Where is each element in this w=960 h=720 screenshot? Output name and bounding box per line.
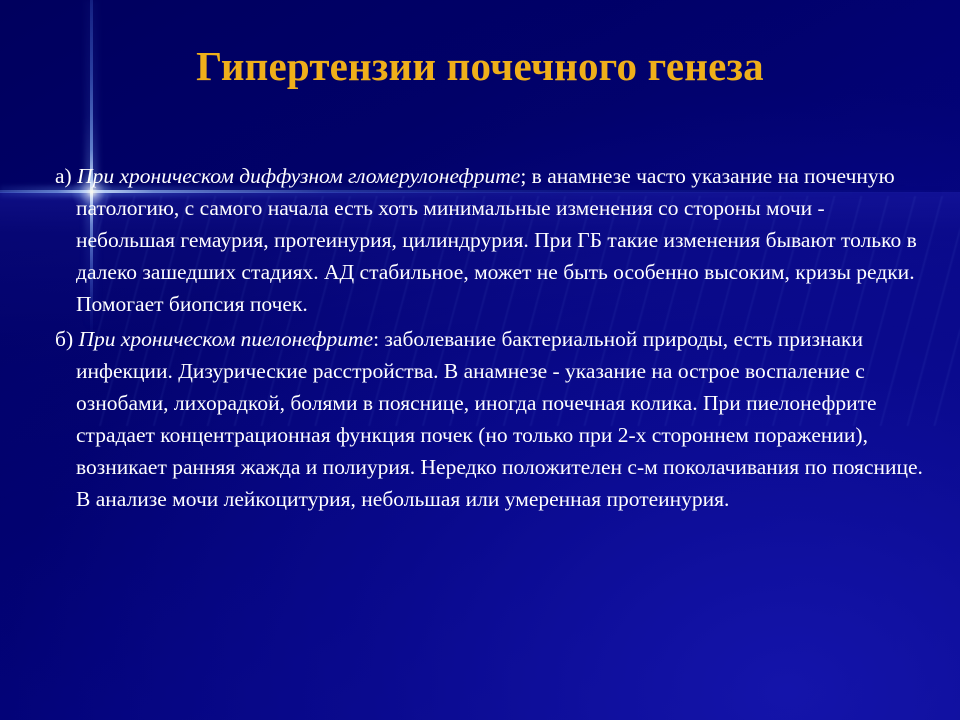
paragraph-lead-b: При хроническом пиелонефрите bbox=[78, 327, 373, 351]
slide-title: Гипертензии почечного генеза bbox=[196, 42, 764, 90]
paragraph-lead-a: При хроническом диффузном гломерулонефри… bbox=[77, 164, 520, 188]
body-paragraph-b: б) При хроническом пиелонефрите: заболев… bbox=[55, 323, 925, 515]
slide-title-container: Гипертензии почечного генеза bbox=[0, 42, 960, 90]
slide-body: а) При хроническом диффузном гломерулоне… bbox=[55, 160, 925, 518]
paragraph-marker-b: б) bbox=[55, 327, 73, 351]
paragraph-marker-a: а) bbox=[55, 164, 72, 188]
body-paragraph-a: а) При хроническом диффузном гломерулоне… bbox=[55, 160, 925, 320]
presentation-slide: Гипертензии почечного генеза а) При хрон… bbox=[0, 0, 960, 720]
paragraph-rest-b: : заболевание бактериальной природы, ест… bbox=[76, 327, 923, 511]
